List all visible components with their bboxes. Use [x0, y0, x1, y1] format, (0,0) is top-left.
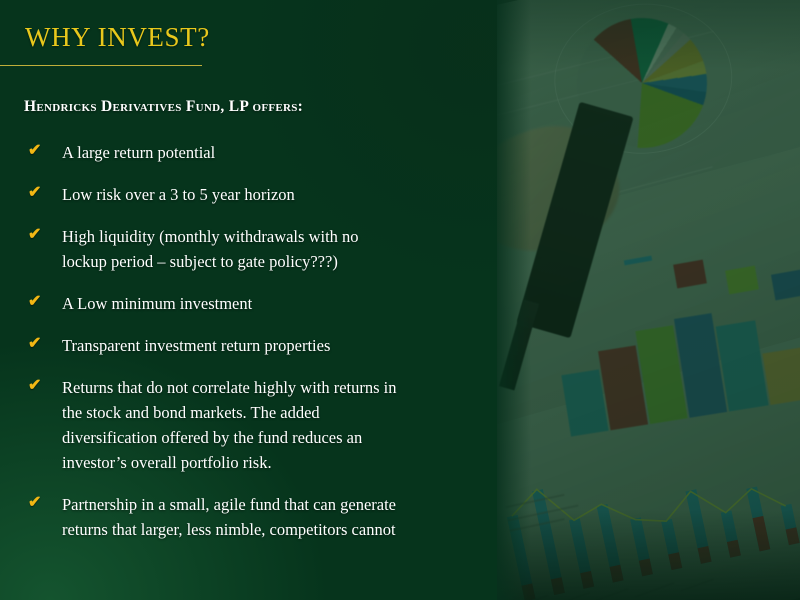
title-underline-rule [0, 65, 202, 66]
list-item-label: A Low minimum investment [62, 291, 480, 316]
checkmark-icon: ✔ [28, 141, 41, 161]
list-item-label: Returns that do not correlate highly wit… [62, 375, 480, 475]
list-item-label: Partnership in a small, agile fund that … [62, 492, 480, 542]
checkmark-icon: ✔ [28, 334, 41, 354]
list-item-label: Low risk over a 3 to 5 year horizon [62, 182, 480, 207]
benefits-list: ✔ A large return potential ✔ Low risk ov… [0, 140, 500, 559]
page-title: WHY INVEST? [25, 22, 210, 53]
photo-content [497, 0, 800, 600]
list-item: ✔ Partnership in a small, agile fund tha… [0, 492, 500, 542]
checkmark-icon: ✔ [28, 493, 41, 513]
slide-content: WHY INVEST? Hendricks Derivatives Fund, … [0, 0, 500, 600]
list-item: ✔ High liquidity (monthly withdrawals wi… [0, 224, 500, 274]
list-item: ✔ Transparent investment return properti… [0, 333, 500, 358]
list-item-label: Transparent investment return properties [62, 333, 480, 358]
list-item: ✔ A large return potential [0, 140, 500, 165]
list-item: ✔ A Low minimum investment [0, 291, 500, 316]
list-item-label: A large return potential [62, 140, 480, 165]
checkmark-icon: ✔ [28, 292, 41, 312]
photo-vignette [497, 0, 800, 600]
presentation-slide: WHY INVEST? Hendricks Derivatives Fund, … [0, 0, 800, 600]
decorative-photo-panel [497, 0, 800, 600]
list-item: ✔ Low risk over a 3 to 5 year horizon [0, 182, 500, 207]
slide-subtitle: Hendricks Derivatives Fund, LP offers: [24, 98, 303, 116]
list-item: ✔ Returns that do not correlate highly w… [0, 375, 500, 475]
list-item-label: High liquidity (monthly withdrawals with… [62, 224, 480, 274]
checkmark-icon: ✔ [28, 183, 41, 203]
checkmark-icon: ✔ [28, 225, 41, 245]
checkmark-icon: ✔ [28, 376, 41, 396]
